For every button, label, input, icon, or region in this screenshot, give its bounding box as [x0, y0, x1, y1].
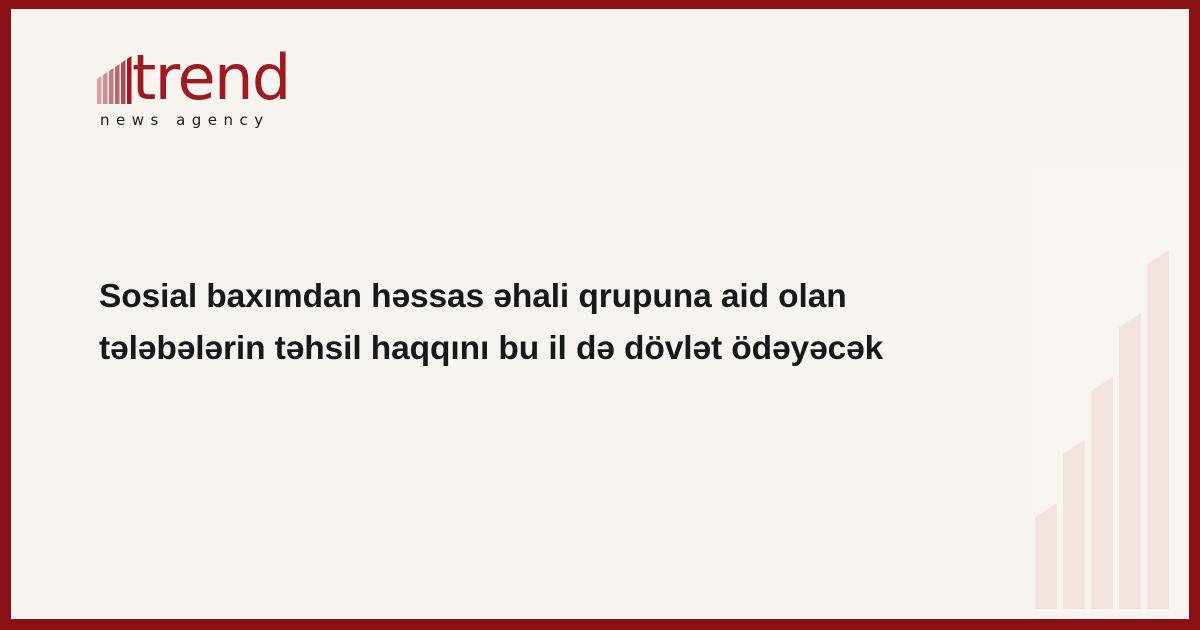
logo-tagline: news agency [100, 111, 270, 129]
brand-logo[interactable]: trend news agency [96, 39, 356, 139]
page-title: Sosial baxımdan həssas əhali qrupuna aid… [99, 271, 999, 375]
decoration-ascending-bars-icon [1031, 169, 1186, 609]
card-canvas: trend news agency Sosial baxımdan həssas… [11, 9, 1189, 619]
logo-wordmark: trend [132, 47, 290, 109]
social-card-frame: trend news agency Sosial baxımdan həssas… [0, 0, 1200, 630]
